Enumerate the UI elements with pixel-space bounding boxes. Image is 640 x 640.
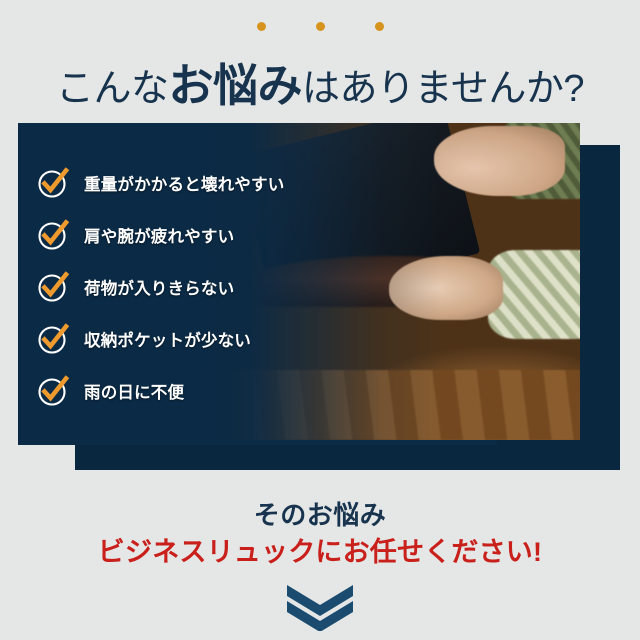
tagline-line-1: そのお悩み [0, 498, 640, 534]
list-item: 重量がかかると壊れやすい [38, 157, 318, 209]
dot-icon [257, 22, 266, 31]
dot-icon [316, 22, 325, 31]
page-title: こんなお悩みはありませんか? [0, 63, 640, 108]
list-item-label: 雨の日に不便 [84, 379, 184, 403]
dot-icon [375, 22, 384, 31]
list-item: 肩や腕が疲れやすい [38, 209, 318, 261]
list-item-label: 荷物が入りきらない [84, 275, 234, 299]
decorative-dots [0, 22, 640, 31]
tagline: そのお悩み ビジネスリュックにお任せください! [0, 498, 640, 571]
check-circle-icon [38, 272, 68, 302]
headline-part-1: こんな [56, 68, 169, 110]
list-item-label: 重量がかかると壊れやすい [84, 171, 284, 195]
check-circle-icon [38, 220, 68, 250]
double-chevron-down-icon [283, 583, 357, 636]
check-circle-icon [38, 324, 68, 354]
scroll-indicator [0, 583, 640, 636]
headline-part-3: はありませんか? [302, 68, 584, 110]
list-item-label: 肩や腕が疲れやすい [84, 223, 234, 247]
list-item: 荷物が入りきらない [38, 261, 318, 313]
list-item: 雨の日に不便 [38, 365, 318, 417]
list-item-label: 収納ポケットが少ない [84, 327, 251, 351]
check-circle-icon [38, 376, 68, 406]
check-circle-icon [38, 168, 68, 198]
list-item: 収納ポケットが少ない [38, 313, 318, 365]
promo-poster: こんなお悩みはありませんか? 重量がかかると壊れやすい [0, 0, 640, 640]
headline-part-2: お悩み [169, 60, 303, 111]
tagline-line-2: ビジネスリュックにお任せください! [0, 534, 640, 571]
problem-checklist: 重量がかかると壊れやすい 肩や腕が疲れやすい 荷物が入りきらない [38, 157, 318, 417]
